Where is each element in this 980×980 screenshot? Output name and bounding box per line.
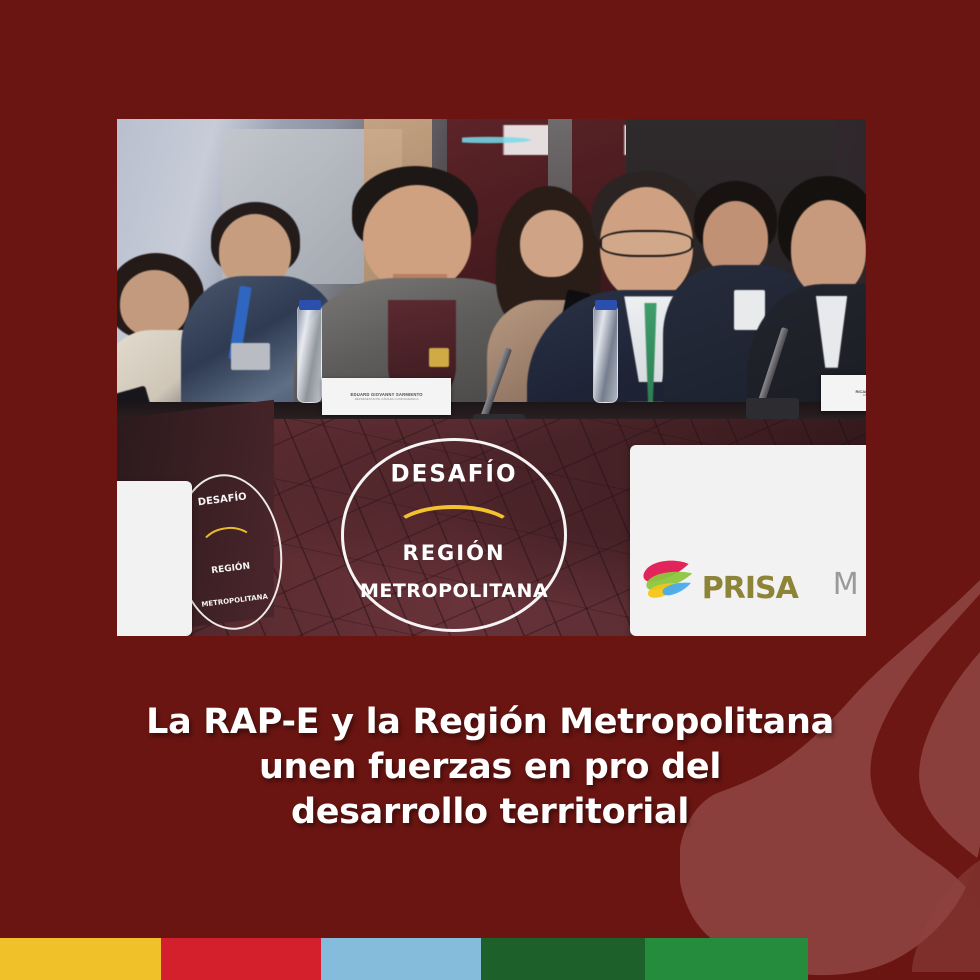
prisa-swoosh-icon	[640, 529, 699, 628]
swoosh-tail	[912, 860, 980, 972]
headline-line-1: La RAP-E y la Región Metropolitana	[0, 700, 980, 745]
water-bottle-right	[593, 305, 618, 403]
logo-word-metropolitana: METROPOLITANA	[360, 580, 548, 602]
prisa-wordmark-trailing: M	[833, 567, 858, 602]
event-photo: EDUARD GIOVANNY SARMIENTO REPRESENTANTE …	[117, 119, 866, 636]
color-swatch-red	[161, 938, 321, 980]
logo-word-region: REGIÓN	[403, 541, 506, 565]
desafio-region-metropolitana-logo: DESAFÍO REGIÓN METROPOLITANA	[319, 434, 589, 636]
headline-line-2: unen fuerzas en pro del	[0, 745, 980, 790]
placard-subtitle-text: REPRESENTANTE CÁMARA CUNDINAMARCA	[355, 397, 419, 401]
headline-line-3: desarrollo territorial	[0, 790, 980, 835]
logo-word-desafio: DESAFÍO	[391, 460, 518, 487]
prisa-sponsor-card: PRISA M	[630, 445, 866, 636]
social-media-poster: EDUARD GIOVANNY SARMIENTO REPRESENTANTE …	[0, 0, 980, 980]
water-bottle-left	[297, 305, 322, 403]
color-swatch-dark-green	[481, 938, 645, 980]
prisa-wordmark: PRISA	[702, 571, 798, 606]
microphone-base-right	[746, 398, 798, 419]
name-placard-secondary: RICARDO AGU DIRECTOR	[821, 375, 866, 411]
color-swatch-yellow	[0, 938, 161, 980]
color-swatch-light-blue	[321, 938, 481, 980]
placard-subtitle-text-2: DIRECTOR	[863, 394, 866, 397]
brand-color-bar	[0, 938, 808, 980]
bottle-cap-right	[595, 300, 617, 310]
bottle-cap-left	[299, 300, 321, 310]
white-card-left	[117, 481, 192, 636]
page-title: La RAP-E y la Región Metropolitana unen …	[0, 700, 980, 834]
color-swatch-green	[645, 938, 808, 980]
name-placard-primary: EDUARD GIOVANNY SARMIENTO REPRESENTANTE …	[322, 378, 451, 415]
